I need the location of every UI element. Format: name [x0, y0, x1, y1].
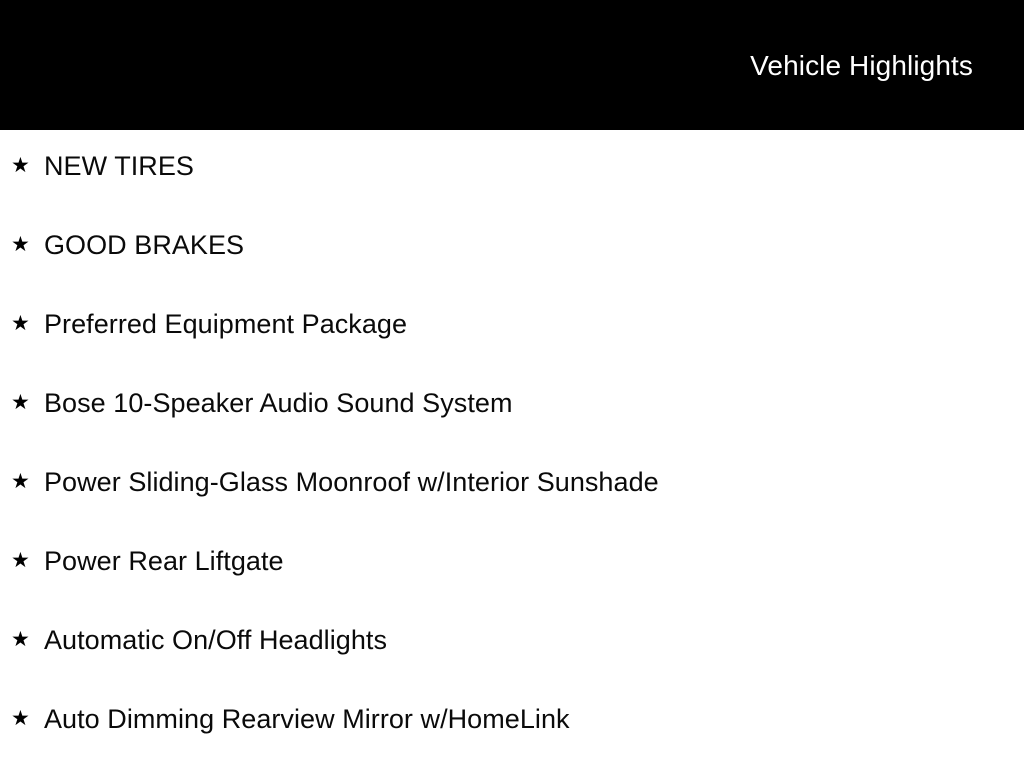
highlight-item-label: Preferred Equipment Package [44, 308, 407, 340]
star-icon: ★ [11, 468, 33, 494]
highlight-item: ★Bose 10-Speaker Audio Sound System [0, 367, 1024, 446]
star-icon: ★ [11, 547, 33, 573]
highlight-item-label: Power Sliding-Glass Moonroof w/Interior … [44, 466, 659, 498]
highlight-item-label: GOOD BRAKES [44, 229, 244, 261]
vehicle-highlights-list: ★NEW TIRES★GOOD BRAKES★Preferred Equipme… [0, 130, 1024, 762]
highlight-item-label: Automatic On/Off Headlights [44, 624, 387, 656]
vehicle-highlights-page: Vehicle Highlights ★NEW TIRES★GOOD BRAKE… [0, 0, 1024, 768]
star-icon: ★ [11, 705, 33, 731]
highlight-item-label: NEW TIRES [44, 150, 194, 182]
highlight-item-label: Auto Dimming Rearview Mirror w/HomeLink [44, 703, 570, 735]
highlight-item: ★NEW TIRES [0, 130, 1024, 209]
star-icon: ★ [11, 310, 33, 336]
star-icon: ★ [11, 231, 33, 257]
header-bar: Vehicle Highlights [0, 0, 1024, 130]
highlight-item-label: Power Rear Liftgate [44, 545, 284, 577]
star-icon: ★ [11, 152, 33, 178]
star-icon: ★ [11, 389, 33, 415]
highlight-item: ★Power Rear Liftgate [0, 525, 1024, 604]
star-icon: ★ [11, 626, 33, 652]
highlight-item: ★Auto Dimming Rearview Mirror w/HomeLink [0, 683, 1024, 762]
highlight-item: ★Preferred Equipment Package [0, 288, 1024, 367]
highlight-item: ★Power Sliding-Glass Moonroof w/Interior… [0, 446, 1024, 525]
page-title: Vehicle Highlights [750, 49, 973, 83]
highlight-item: ★GOOD BRAKES [0, 209, 1024, 288]
highlight-item-label: Bose 10-Speaker Audio Sound System [44, 387, 513, 419]
highlight-item: ★Automatic On/Off Headlights [0, 604, 1024, 683]
